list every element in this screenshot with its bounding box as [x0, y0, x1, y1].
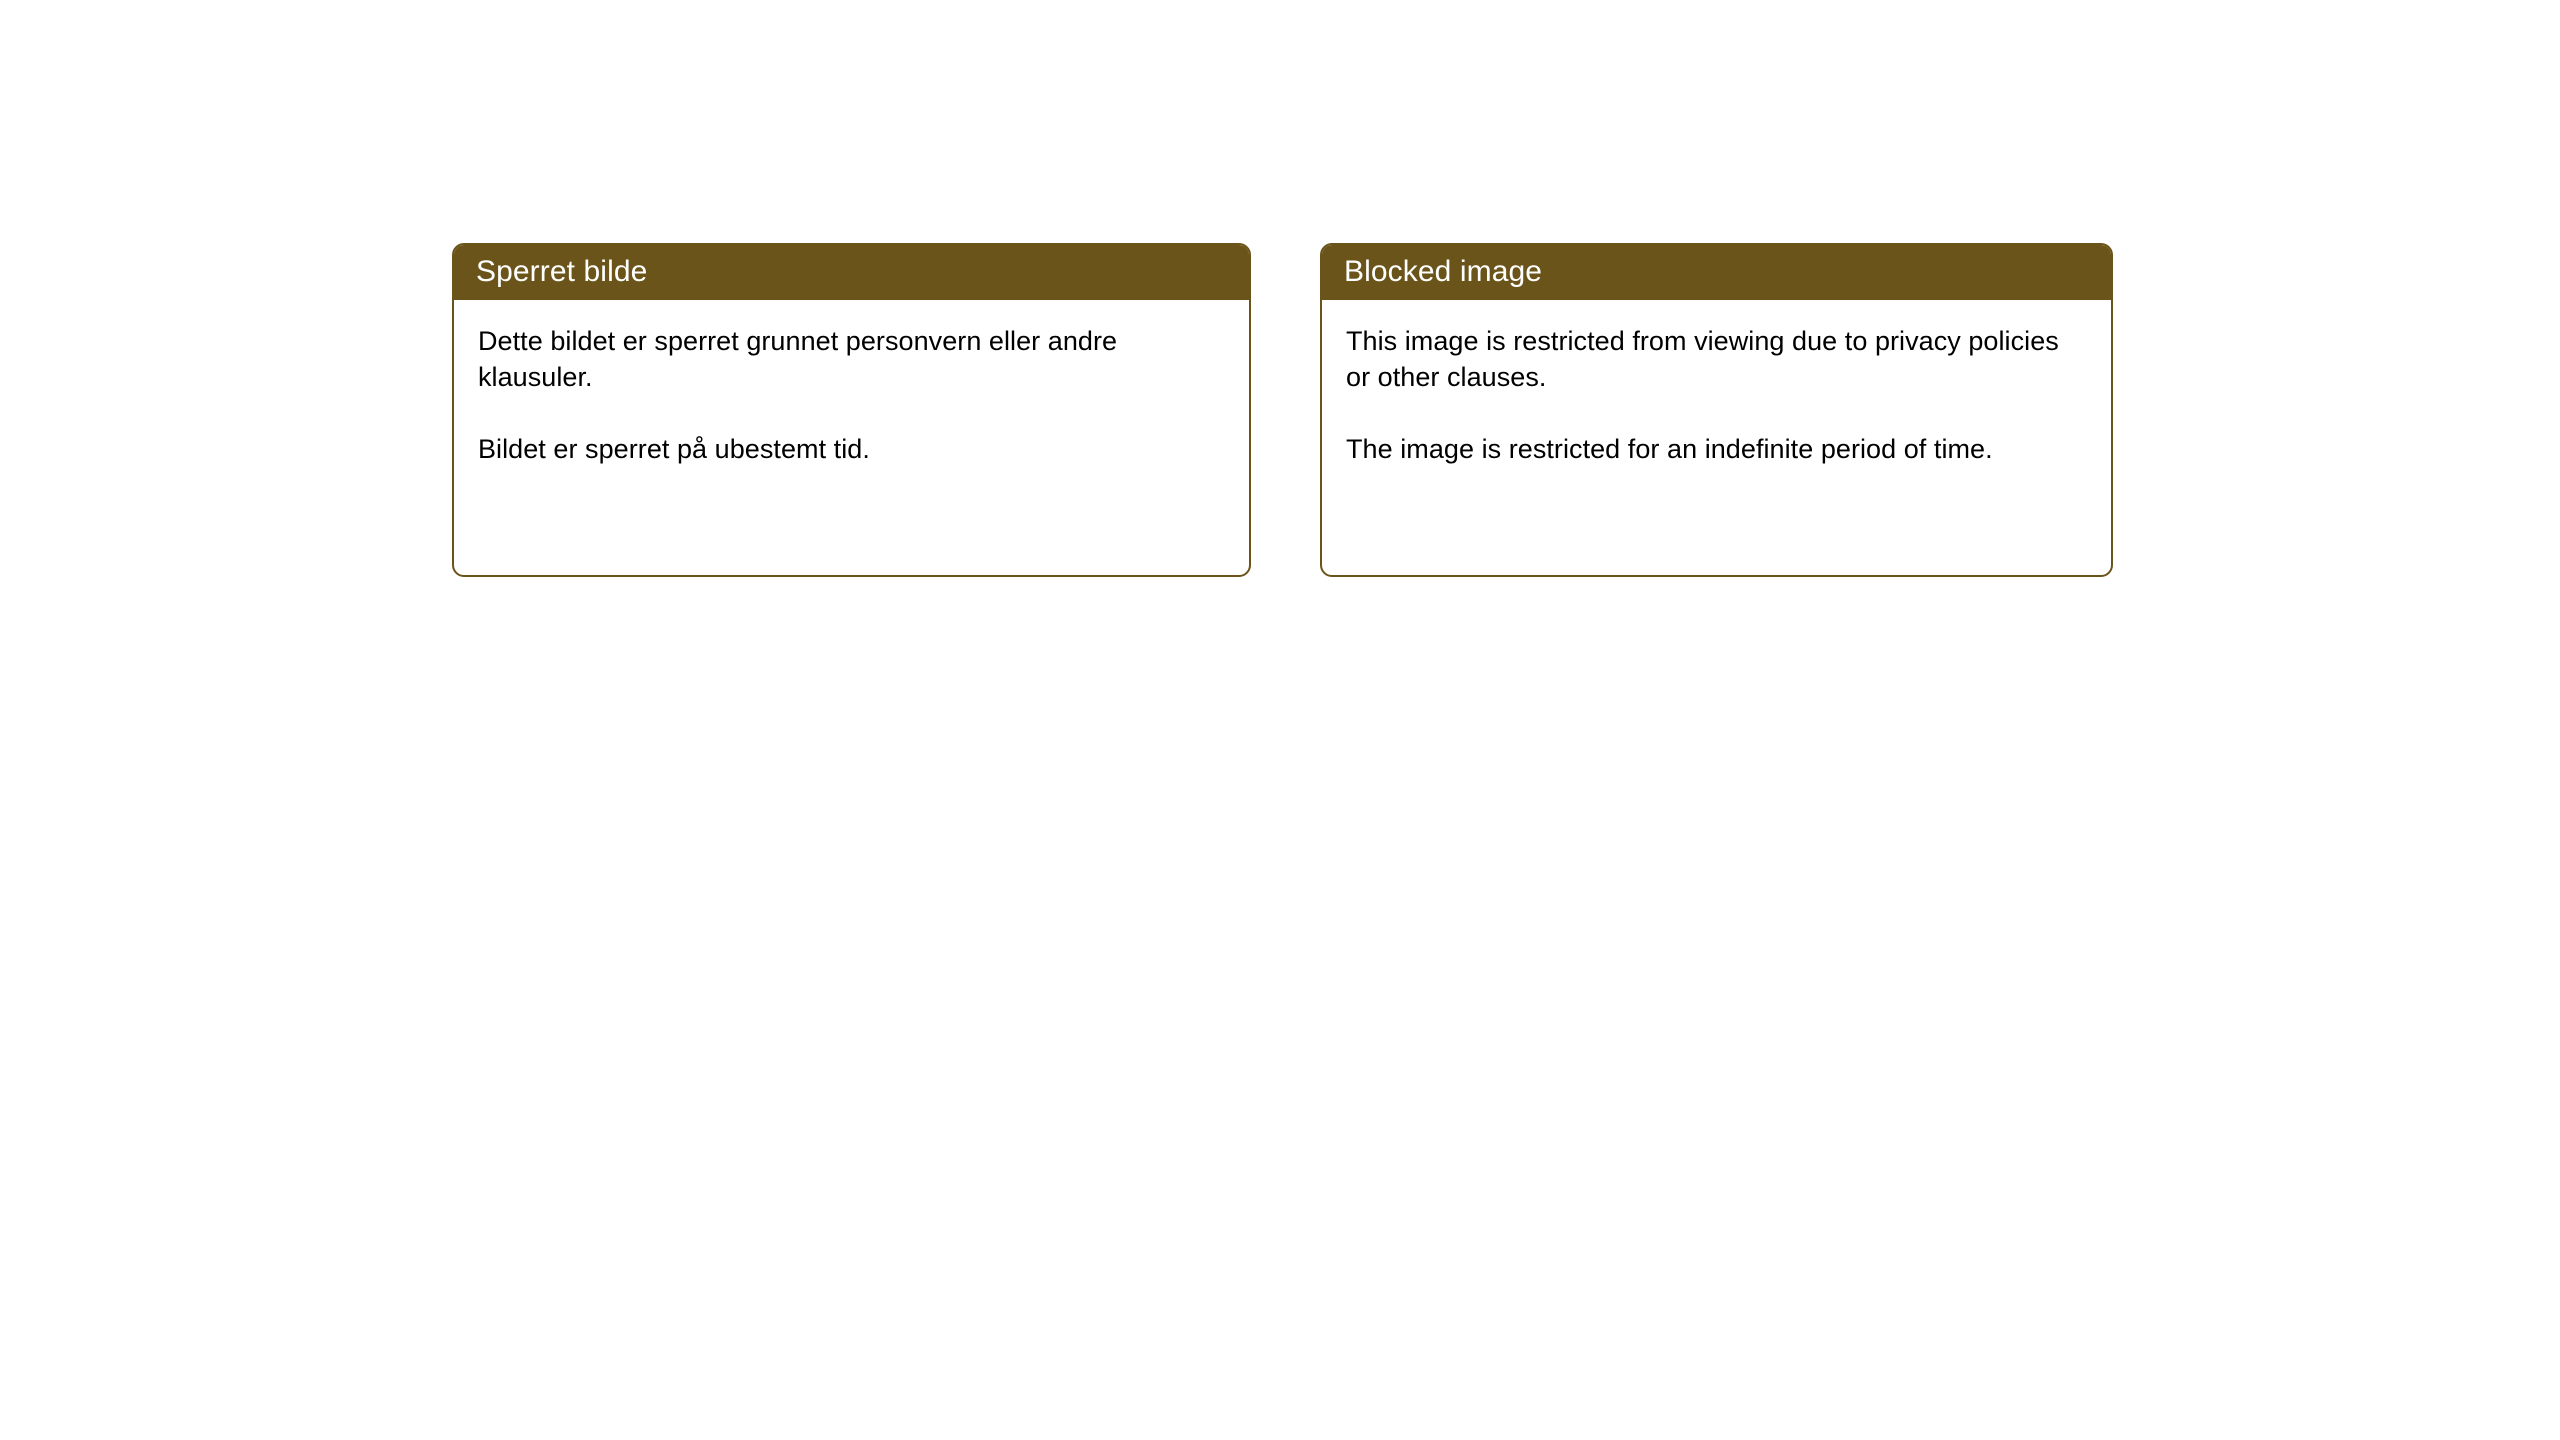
- card-paragraph-en-1: This image is restricted from viewing du…: [1346, 323, 2085, 395]
- card-paragraph-no-1: Dette bildet er sperret grunnet personve…: [478, 323, 1223, 395]
- card-title-no: Sperret bilde: [476, 255, 647, 289]
- card-paragraph-no-2: Bildet er sperret på ubestemt tid.: [478, 431, 1223, 467]
- card-body-no: Dette bildet er sperret grunnet personve…: [454, 300, 1249, 467]
- card-header-en: Blocked image: [1320, 243, 2113, 300]
- card-body-en: This image is restricted from viewing du…: [1322, 300, 2111, 467]
- blocked-image-notice-card-en: Blocked image This image is restricted f…: [1320, 243, 2113, 577]
- card-paragraph-en-2: The image is restricted for an indefinit…: [1346, 431, 2085, 467]
- card-header-no: Sperret bilde: [452, 243, 1251, 300]
- blocked-image-notice-card-no: Sperret bilde Dette bildet er sperret gr…: [452, 243, 1251, 577]
- page-canvas: Sperret bilde Dette bildet er sperret gr…: [0, 0, 2560, 1440]
- card-title-en: Blocked image: [1344, 255, 1542, 289]
